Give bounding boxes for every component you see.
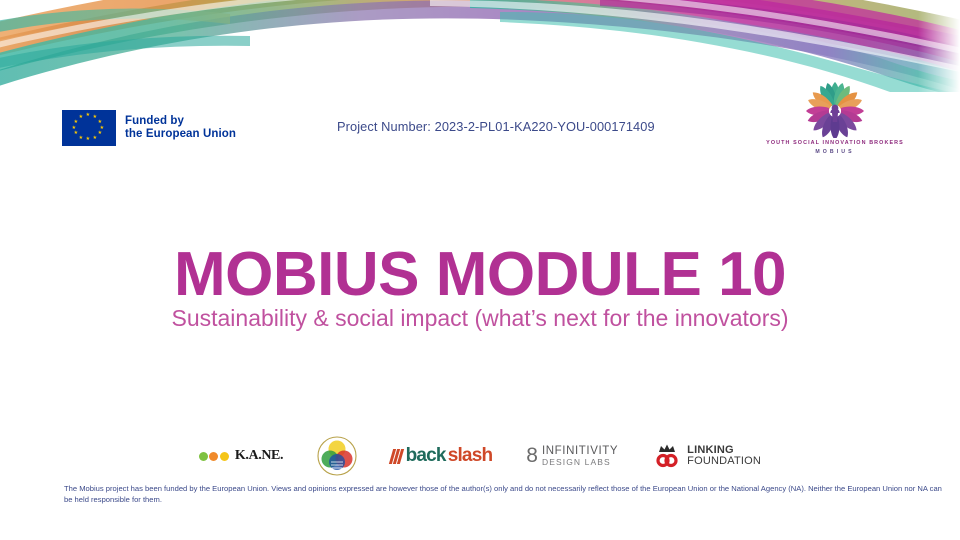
mobius-logo-tagline: YOUTH SOCIAL INNOVATION BROKERS	[760, 140, 910, 146]
partner-logo-circle	[317, 434, 357, 478]
partner-logo-backslash: back slash	[391, 434, 492, 478]
partner-logos-row: K.A.NE. back slash 8 INFINITIVITY DESIGN…	[0, 432, 960, 480]
infinitivity-label-line-1: INFINITIVITY	[542, 445, 618, 457]
mobius-emblem-icon	[800, 80, 870, 138]
project-number: Project Number: 2023-2-PL01-KA220-YOU-00…	[337, 119, 655, 134]
infinitivity-label-line-2: DESIGN LABS	[542, 457, 618, 467]
linking-label-line-2: FOUNDATION	[687, 456, 761, 468]
linking-foundation-text: LINKING FOUNDATION	[687, 445, 761, 468]
page-subtitle: Sustainability & social impact (what’s n…	[0, 303, 960, 333]
funding-disclaimer: The Mobius project has been funded by th…	[64, 484, 944, 505]
kane-label: K.A.NE.	[235, 448, 283, 464]
infinitivity-text: INFINITIVITY DESIGN LABS	[542, 445, 618, 467]
crown-rings-icon	[652, 441, 682, 471]
eu-funding-text: Funded by the European Union	[125, 115, 236, 142]
partner-logo-linking-foundation: LINKING FOUNDATION	[652, 434, 761, 478]
backslash-slashes-icon	[391, 449, 402, 464]
eu-flag-icon: ★ ★ ★ ★ ★ ★ ★ ★ ★ ★ ★ ★	[62, 110, 116, 146]
circular-venn-icon	[317, 436, 357, 476]
eu-funding-line-2: the European Union	[125, 128, 236, 142]
mobius-brand-logo: YOUTH SOCIAL INNOVATION BROKERS MOBIUS	[760, 80, 910, 162]
eu-funding-logo: ★ ★ ★ ★ ★ ★ ★ ★ ★ ★ ★ ★ Funded by the Eu…	[62, 110, 236, 146]
partner-logo-kane: K.A.NE.	[199, 434, 283, 478]
decorative-brush-banner	[0, 0, 960, 92]
backslash-label-back: back	[406, 445, 446, 467]
eu-funding-line-1: Funded by	[125, 115, 236, 129]
mobius-logo-name: MOBIUS	[760, 149, 910, 155]
backslash-label-slash: slash	[448, 445, 493, 467]
kane-dots-icon	[199, 452, 229, 461]
partner-logo-infinitivity: 8 INFINITIVITY DESIGN LABS	[526, 434, 618, 478]
infinity-glyph-icon: 8	[526, 446, 538, 466]
page-title: MOBIUS MODULE 10	[0, 240, 960, 310]
